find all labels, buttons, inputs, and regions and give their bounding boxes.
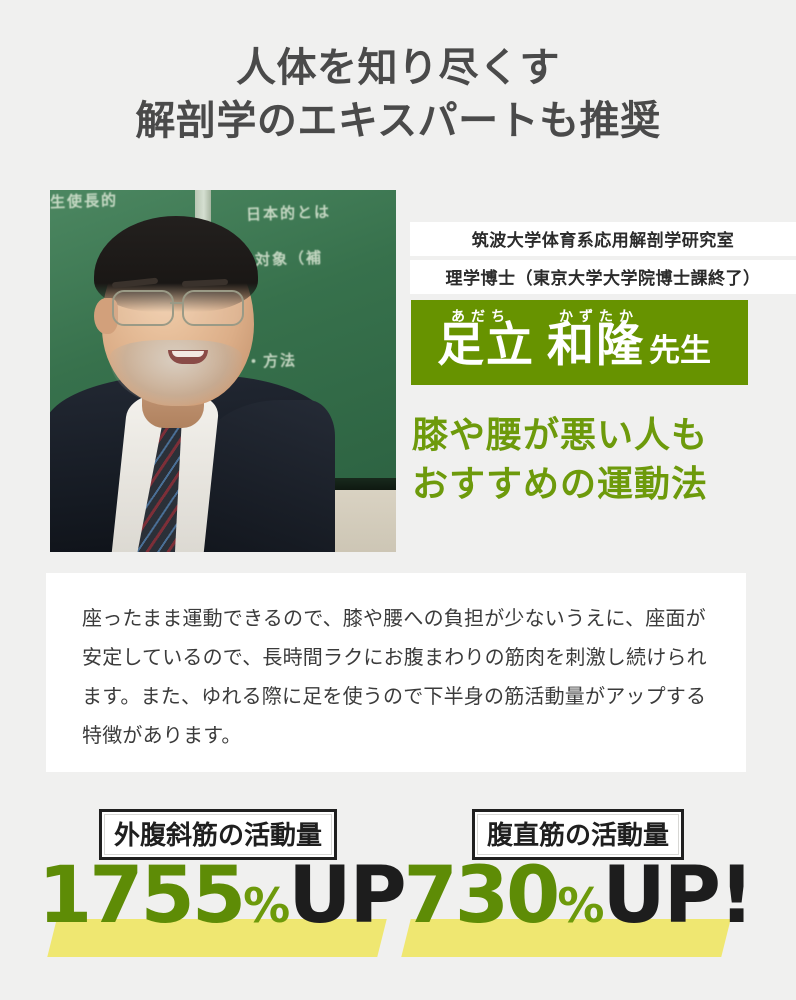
given-name: 和隆 bbox=[547, 322, 645, 369]
stats-section: 外腹斜筋の活動量 1755%UP 腹直筋の活動量 730%UP! bbox=[0, 805, 796, 970]
stat-number: 730 bbox=[404, 851, 558, 941]
profile-section: 日本的とは ・対象（補 生使長的 ・方法 ・始終 筑波大学体育系応用解剖学研究室… bbox=[0, 190, 796, 555]
suit-shoulder bbox=[200, 400, 335, 552]
lens-right bbox=[182, 290, 244, 326]
expert-tagline: 膝や腰が悪い人も おすすめの運動法 bbox=[412, 412, 708, 510]
stat-block-external-oblique: 外腹斜筋の活動量 1755%UP bbox=[38, 805, 398, 970]
stat-figure: 1755%UP bbox=[38, 857, 398, 967]
stat-value: 730%UP! bbox=[398, 857, 758, 935]
stat-number: 1755 bbox=[38, 851, 243, 941]
page-title-line-2: 解剖学のエキスパートも推奨 bbox=[0, 95, 796, 148]
expert-name-row: 足立 和隆 先生 bbox=[437, 322, 711, 369]
stat-up-label: UP bbox=[288, 851, 405, 941]
page-title-line-1: 人体を知り尽くす bbox=[0, 42, 796, 95]
chalk-text-line-1: 日本的とは bbox=[246, 201, 332, 225]
name-honorific: 先生 bbox=[649, 336, 711, 367]
description-card: 座ったまま運動できるので、膝や腰への負担が少ないうえに、座面が安定しているので、… bbox=[46, 573, 746, 772]
stat-value: 1755%UP bbox=[38, 857, 398, 935]
chalk-text-line-3: 生使長的 bbox=[50, 190, 118, 212]
expert-tagline-line-2: おすすめの運動法 bbox=[412, 461, 708, 510]
stat-up-label: UP! bbox=[602, 851, 752, 941]
stat-block-rectus-abdominis: 腹直筋の活動量 730%UP! bbox=[398, 805, 758, 970]
lens-left bbox=[112, 290, 174, 326]
credential-affiliation: 筑波大学体育系応用解剖学研究室 bbox=[410, 222, 796, 256]
stat-percent-sign: % bbox=[243, 879, 288, 934]
page-title: 人体を知り尽くす 解剖学のエキスパートも推奨 bbox=[0, 0, 796, 148]
professor-photo: 日本的とは ・対象（補 生使長的 ・方法 ・始終 bbox=[50, 190, 396, 552]
family-name: 足立 bbox=[437, 322, 535, 369]
expert-tagline-line-1: 膝や腰が悪い人も bbox=[412, 412, 708, 461]
credential-degree: 理学博士（東京大学大学院博士課終了） bbox=[410, 260, 796, 294]
stat-figure: 730%UP! bbox=[398, 857, 758, 967]
eyeglasses-icon bbox=[106, 290, 254, 324]
expert-name-banner: あだち かずたか 足立 和隆 先生 bbox=[411, 300, 748, 385]
chalk-text-line-4: ・方法 bbox=[246, 349, 298, 372]
description-paragraph: 座ったまま運動できるので、膝や腰への負担が少ないうえに、座面が安定しているので、… bbox=[82, 599, 714, 755]
stat-percent-sign: % bbox=[557, 879, 602, 934]
